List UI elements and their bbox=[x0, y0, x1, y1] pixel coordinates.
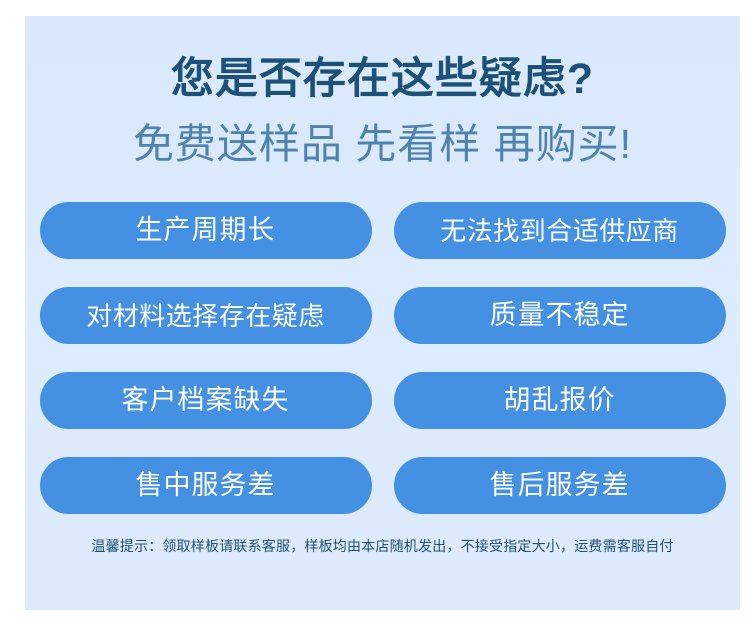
concern-pill-label: 客户档案缺失 bbox=[122, 387, 290, 414]
concern-pill-8[interactable]: 售后服务差 bbox=[394, 457, 726, 514]
page-title: 您是否存在这些疑虑? bbox=[25, 16, 740, 101]
concern-pill-7[interactable]: 售中服务差 bbox=[40, 457, 372, 514]
footer-note: 温馨提示：领取样板请联系客服，样板均由本店随机发出，不接受指定大小，运费需客服自… bbox=[25, 514, 740, 555]
concern-pill-label: 质量不稳定 bbox=[490, 302, 630, 329]
promo-panel: 您是否存在这些疑虑? 免费送样品 先看样 再购买! 生产周期长 无法找到合适供应… bbox=[25, 16, 740, 610]
concern-pill-label: 无法找到合适供应商 bbox=[440, 218, 679, 244]
concern-pill-label: 生产周期长 bbox=[136, 217, 276, 244]
concern-pill-4[interactable]: 质量不稳定 bbox=[394, 287, 726, 344]
concern-pill-1[interactable]: 生产周期长 bbox=[40, 202, 372, 259]
concern-pill-2[interactable]: 无法找到合适供应商 bbox=[394, 202, 726, 259]
concern-pill-grid: 生产周期长 无法找到合适供应商 对材料选择存在疑虑 质量不稳定 客户档案缺失 胡… bbox=[25, 166, 740, 514]
concern-pill-label: 售后服务差 bbox=[490, 472, 630, 499]
concern-pill-label: 对材料选择存在疑虑 bbox=[86, 303, 325, 329]
concern-pill-6[interactable]: 胡乱报价 bbox=[394, 372, 726, 429]
concern-pill-5[interactable]: 客户档案缺失 bbox=[40, 372, 372, 429]
page-subtitle: 免费送样品 先看样 再购买! bbox=[25, 101, 740, 166]
concern-pill-label: 胡乱报价 bbox=[504, 387, 616, 414]
concern-pill-3[interactable]: 对材料选择存在疑虑 bbox=[40, 287, 372, 344]
concern-pill-label: 售中服务差 bbox=[136, 472, 276, 499]
